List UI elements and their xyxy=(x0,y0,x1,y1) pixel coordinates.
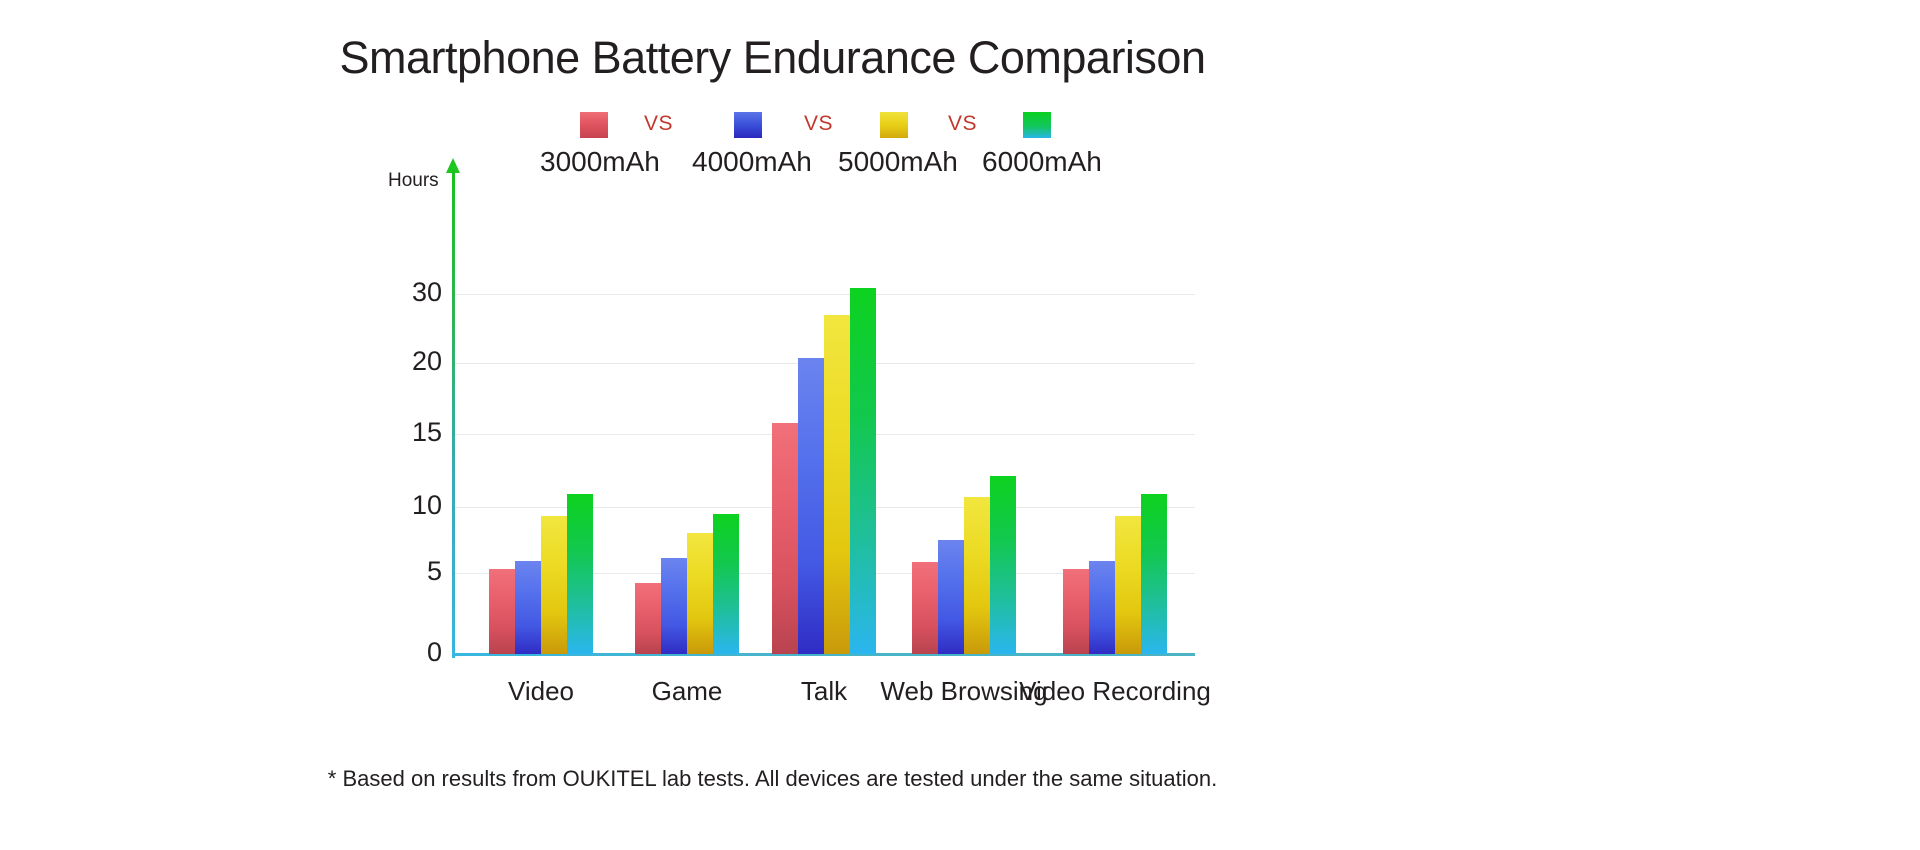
bar-group xyxy=(1063,0,1167,654)
x-axis-label-video-recording: Video Recording xyxy=(975,676,1255,707)
bar-6000mah-video xyxy=(567,494,593,654)
bar-group xyxy=(772,0,876,654)
bar-4000mah-video-recording xyxy=(1089,561,1115,654)
bar-3000mah-web-browsing xyxy=(912,562,938,654)
plot-area: Hours 0510152030 VideoGameTalkWeb Browsi… xyxy=(0,0,1545,850)
bar-5000mah-video-recording xyxy=(1115,516,1141,654)
y-tick-label: 5 xyxy=(394,558,442,585)
bar-4000mah-game xyxy=(661,558,687,654)
bar-group xyxy=(489,0,593,654)
bar-6000mah-talk xyxy=(850,288,876,654)
bar-4000mah-video xyxy=(515,561,541,654)
y-tick-label: 20 xyxy=(394,348,442,375)
y-tick-label: 15 xyxy=(394,419,442,446)
bar-group xyxy=(912,0,1016,654)
y-tick-label: 10 xyxy=(394,492,442,519)
bar-3000mah-talk xyxy=(772,423,798,654)
bar-5000mah-web-browsing xyxy=(964,497,990,654)
y-tick-label: 30 xyxy=(394,279,442,306)
bar-4000mah-web-browsing xyxy=(938,540,964,654)
y-axis-line xyxy=(452,170,455,658)
chart-page: Smartphone Battery Endurance Comparison … xyxy=(0,0,1920,850)
bar-5000mah-video xyxy=(541,516,567,654)
bar-3000mah-video xyxy=(489,569,515,654)
bar-3000mah-video-recording xyxy=(1063,569,1089,654)
bar-3000mah-game xyxy=(635,583,661,654)
bar-6000mah-web-browsing xyxy=(990,476,1016,654)
bar-6000mah-game xyxy=(713,514,739,654)
bar-6000mah-video-recording xyxy=(1141,494,1167,654)
y-axis-title: Hours xyxy=(388,170,439,192)
bar-5000mah-talk xyxy=(824,315,850,654)
footnote: * Based on results from OUKITEL lab test… xyxy=(0,766,1545,792)
bar-5000mah-game xyxy=(687,533,713,654)
y-tick-label: 0 xyxy=(394,639,442,666)
bar-4000mah-talk xyxy=(798,358,824,654)
bar-group xyxy=(635,0,739,654)
